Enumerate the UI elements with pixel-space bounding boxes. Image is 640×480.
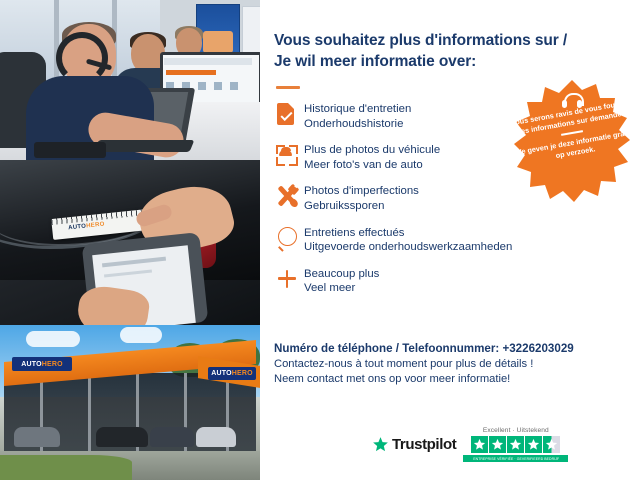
title-divider xyxy=(276,86,300,89)
cloud xyxy=(120,327,162,343)
magnifier-icon xyxy=(274,225,304,253)
trustpilot-name: Trustpilot xyxy=(392,436,456,453)
tools-icon xyxy=(274,183,304,211)
list-item-label: Photos d'imperfections Gebruikssporen xyxy=(304,183,419,213)
contact-subtitle-nl: Neem contact met ons op voor meer inform… xyxy=(274,372,630,387)
trustpilot-star-icon xyxy=(372,436,389,453)
info-panel: Vous souhaitez plus d'informations sur /… xyxy=(260,0,640,480)
label-nl: Uitgevoerde onderhoudswerkzaamheden xyxy=(304,240,512,255)
star-icon xyxy=(507,436,524,453)
car-scan-icon xyxy=(274,142,304,170)
trustpilot-badge[interactable]: Trustpilot Excellent · Uitstekend ENTREP… xyxy=(372,427,568,462)
document-check-icon xyxy=(274,101,304,129)
vehicle-inspection-photo: AUTOHERO xyxy=(0,160,260,325)
autohero-sign: AUTOHERO xyxy=(208,367,256,380)
trustpilot-verified-bar: ENTREPRISE VÉRIFIÉE · GEVERIFIEERD BEDRI… xyxy=(463,455,568,462)
feature-list: Historique d'entretien Onderhoudshistori… xyxy=(274,101,626,296)
contact-subtitle-fr: Contactez-nous à tout moment pour plus d… xyxy=(274,357,630,372)
list-item: Plus de photos du véhicule Meer foto's v… xyxy=(274,142,626,172)
facade-mullion xyxy=(88,373,91,451)
brand-part1: AUTO xyxy=(68,223,87,231)
headline-line-1: Vous souhaitez plus d'informations sur / xyxy=(274,30,626,51)
list-item-label: Plus de photos du véhicule Meer foto's v… xyxy=(304,142,440,172)
label-fr: Beaucoup plus xyxy=(304,268,379,280)
label-nl: Veel meer xyxy=(304,281,379,296)
label-fr: Photos d'imperfections xyxy=(304,185,419,197)
showroom-car xyxy=(14,427,60,447)
autohero-sign: AUTOHERO xyxy=(12,357,72,371)
list-item: Photos d'imperfections Gebruikssporen xyxy=(274,183,626,213)
dealership-photo: AUTOHERO AUTOHERO xyxy=(0,325,260,480)
list-item-label: Historique d'entretien Onderhoudshistori… xyxy=(304,101,411,131)
grass-strip xyxy=(0,455,132,480)
info-card: AUTOHERO xyxy=(0,0,640,480)
call-center-photo xyxy=(0,0,260,160)
tablet-device xyxy=(34,142,106,158)
trustpilot-verified-text: ENTREPRISE VÉRIFIÉE · GEVERIFIEERD BEDRI… xyxy=(473,457,559,461)
plus-icon xyxy=(274,266,304,294)
brand-part1: AUTO xyxy=(211,370,232,377)
trustpilot-caption: Excellent · Uitstekend xyxy=(483,427,549,434)
list-item: Entretiens effectués Uitgevoerde onderho… xyxy=(274,225,626,255)
label-nl: Meer foto's van de auto xyxy=(304,158,440,173)
star-icon-half xyxy=(543,436,560,453)
phone-number-line[interactable]: Numéro de téléphone / Telefoonnummer: +3… xyxy=(274,341,630,357)
monitor-screen-accent xyxy=(166,70,216,75)
showroom-car xyxy=(96,427,148,447)
star-icon xyxy=(471,436,488,453)
star-icon xyxy=(489,436,506,453)
label-fr: Entretiens effectués xyxy=(304,227,404,239)
photo-column: AUTOHERO xyxy=(0,0,260,480)
headline-line-2: Je wil meer informatie over: xyxy=(274,51,626,72)
keyboard xyxy=(94,140,195,152)
label-nl: Gebruikssporen xyxy=(304,199,419,214)
star-rating xyxy=(471,436,561,453)
list-item-label: Entretiens effectués Uitgevoerde onderho… xyxy=(304,225,512,255)
label-fr: Historique d'entretien xyxy=(304,103,411,115)
label-nl: Onderhoudshistorie xyxy=(304,117,411,132)
trustpilot-rating: Excellent · Uitstekend ENTREPRISE VÉRIFI… xyxy=(463,427,568,462)
brand-part2: HERO xyxy=(232,370,253,377)
showroom-car xyxy=(150,427,194,447)
list-item: Beaucoup plus Veel meer xyxy=(274,266,626,296)
list-item: Historique d'entretien Onderhoudshistori… xyxy=(274,101,626,131)
trustpilot-wordmark: Trustpilot xyxy=(372,436,456,453)
showroom-car xyxy=(196,427,236,447)
list-item-label: Beaucoup plus Veel meer xyxy=(304,266,379,296)
cloud xyxy=(26,331,80,347)
label-fr: Plus de photos du véhicule xyxy=(304,144,440,156)
brand-part2: HERO xyxy=(86,222,105,230)
star-icon xyxy=(525,436,542,453)
brand-part1: AUTO xyxy=(21,361,42,368)
monitor-screen-bar xyxy=(164,58,252,65)
brand-part2: HERO xyxy=(42,361,63,368)
page-title: Vous souhaitez plus d'informations sur /… xyxy=(274,30,626,72)
contact-block: Numéro de téléphone / Telefoonnummer: +3… xyxy=(274,341,630,388)
